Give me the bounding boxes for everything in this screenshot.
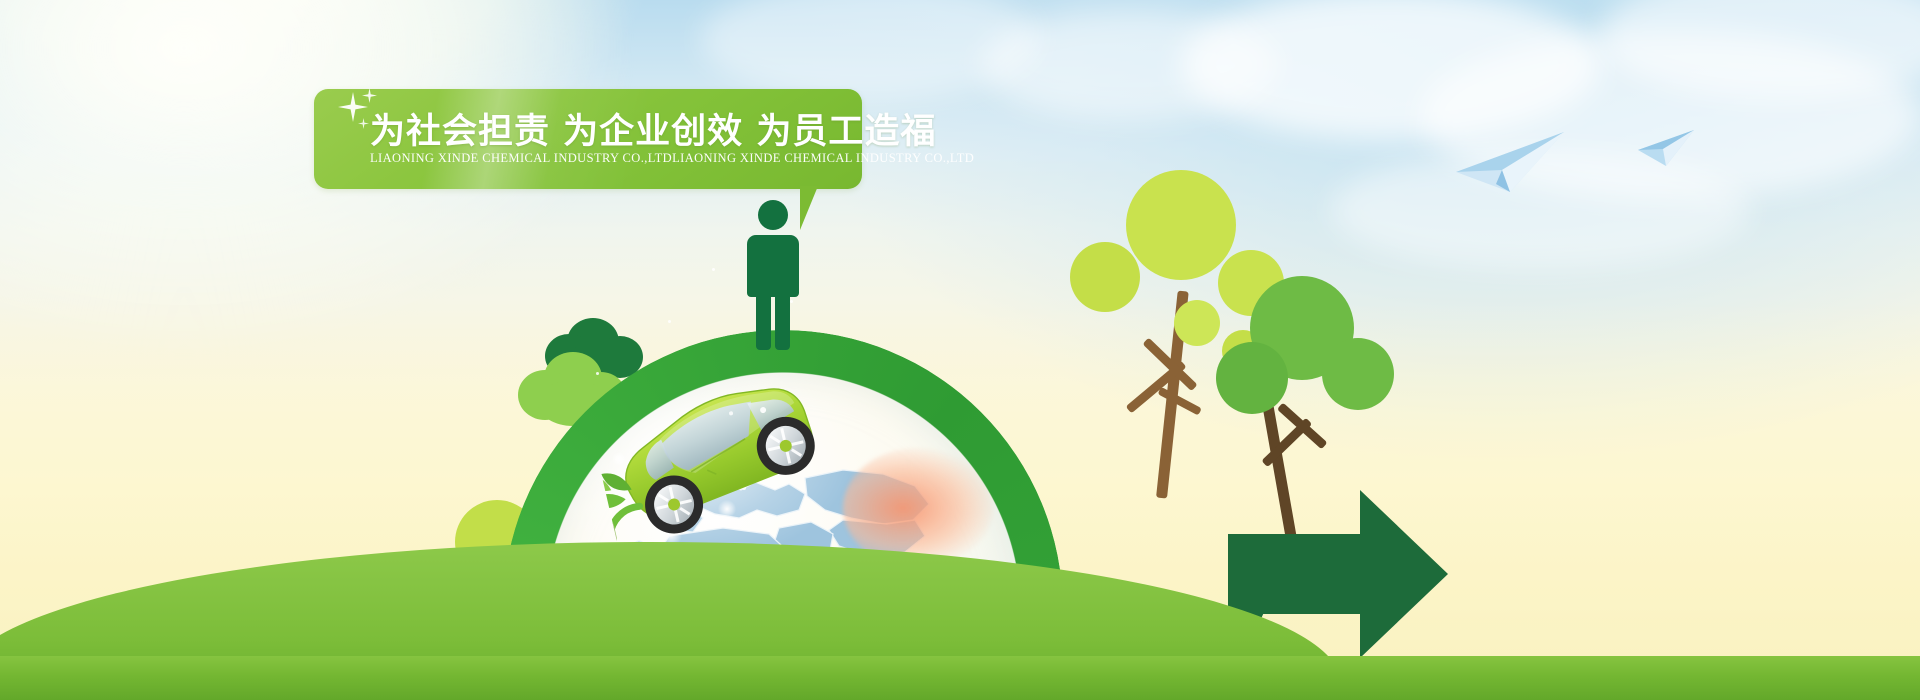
sparkle-dot xyxy=(668,320,671,323)
sparkle-dot xyxy=(712,268,715,271)
person-torso xyxy=(747,235,799,297)
person-head xyxy=(758,200,788,230)
person-leg-right xyxy=(775,292,790,350)
person-leg-left xyxy=(756,292,771,350)
ground-strip xyxy=(0,656,1920,700)
company-subtitle: LIAONING XINDE CHEMICAL INDUSTRY CO.,LTD… xyxy=(370,151,974,166)
person-pictogram-icon xyxy=(740,200,806,350)
sparkle-dot xyxy=(596,372,599,375)
page-title: 为社会担责 为企业创效 为员工造福 xyxy=(370,103,936,154)
paper-plane-icon xyxy=(1452,126,1572,198)
paper-plane-icon xyxy=(1636,128,1698,168)
banner-scene: 为社会担责 为企业创效 为员工造福 LIAONING XINDE CHEMICA… xyxy=(0,0,1920,700)
headline-bubble: 为社会担责 为企业创效 为员工造福 LIAONING XINDE CHEMICA… xyxy=(314,89,862,189)
